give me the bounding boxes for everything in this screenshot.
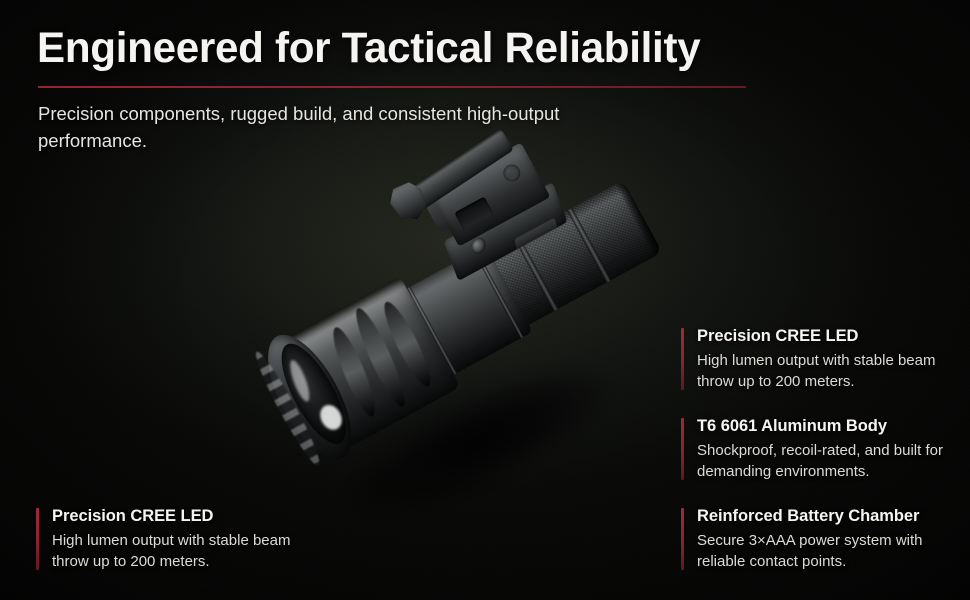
feature-block-precision-cree-led: Precision CREE LED High lumen output wit…: [681, 326, 969, 393]
feature-block-aluminum-body: T6 6061 Aluminum Body Shockproof, recoil…: [681, 416, 969, 483]
feature-description: High lumen output with stable beam throw…: [697, 350, 969, 393]
accent-bar: [681, 418, 684, 480]
accent-bar: [36, 508, 39, 570]
feature-title: T6 6061 Aluminum Body: [697, 416, 969, 437]
page-title: Engineered for Tactical Reliability: [37, 26, 700, 72]
feature-block-battery-chamber: Reinforced Battery Chamber Secure 3×AAA …: [681, 506, 969, 573]
feature-block-precision-cree-led-left: Precision CREE LED High lumen output wit…: [36, 506, 324, 573]
feature-description: High lumen output with stable beam throw…: [52, 530, 324, 573]
feature-description: Secure 3×AAA power system with reliable …: [697, 530, 969, 573]
feature-title: Precision CREE LED: [52, 506, 324, 527]
feature-title: Precision CREE LED: [697, 326, 969, 347]
accent-bar: [681, 328, 684, 390]
feature-title: Reinforced Battery Chamber: [697, 506, 969, 527]
feature-description: Shockproof, recoil-rated, and built for …: [697, 440, 969, 483]
product-feature-banner: Engineered for Tactical Reliability Prec…: [0, 0, 970, 600]
accent-bar: [681, 508, 684, 570]
page-subtitle: Precision components, rugged build, and …: [38, 100, 598, 154]
title-underline: [38, 86, 746, 88]
